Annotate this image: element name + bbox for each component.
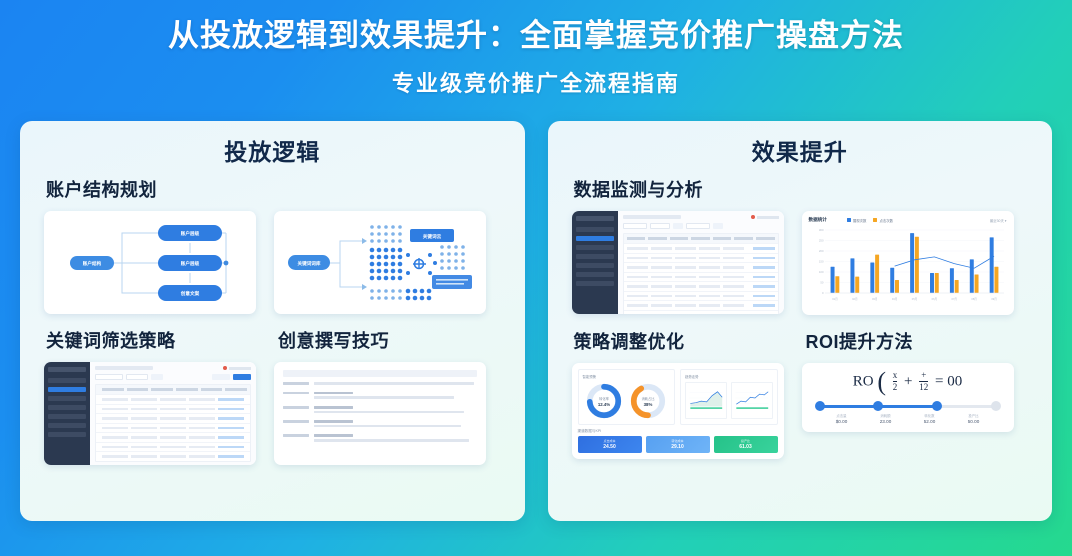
svg-text:05月: 05月 <box>911 297 917 301</box>
slider-knob-3[interactable] <box>932 401 942 411</box>
trend-panel: 趋势走势 <box>680 369 778 425</box>
document-body <box>314 406 477 415</box>
page-header: 从投放逻辑到效果提升：全面掌握竞价推广操盘方法 专业级竞价推广全流程指南 <box>0 0 1072 98</box>
table-row[interactable] <box>624 262 778 272</box>
slider-knob-4[interactable] <box>991 401 1001 411</box>
username-placeholder <box>229 367 251 370</box>
admin-nav-item[interactable] <box>48 432 86 437</box>
svg-text:100: 100 <box>818 270 823 274</box>
svg-text:07月: 07月 <box>951 297 957 301</box>
keyword-cloud-tag: 关键词云 <box>423 233 442 240</box>
tile-value: 29.10 <box>648 444 708 450</box>
filter-input[interactable] <box>650 223 670 229</box>
trend-chart-1[interactable] <box>685 382 727 419</box>
donut-panel: 智能预警 转化率 12.4% 消耗占比 <box>578 369 676 425</box>
formula-prefix: RO <box>853 374 874 390</box>
flow-node-2: 账户层级 <box>181 260 200 267</box>
admin-sidebar <box>572 211 618 314</box>
area-chart-svg <box>688 385 724 411</box>
table-row[interactable] <box>96 394 250 404</box>
table-row[interactable] <box>624 272 778 282</box>
document-label <box>283 382 309 387</box>
admin-nav-item[interactable] <box>576 281 614 286</box>
admin-filters[interactable] <box>95 374 251 380</box>
slider-mark: 点击量 $0.00 <box>820 413 864 424</box>
breadcrumb <box>95 366 153 370</box>
filter-label <box>713 223 723 229</box>
svg-text:03月: 03月 <box>871 297 877 301</box>
donut-label: 消耗占比 <box>642 396 656 401</box>
roi-progress-slider[interactable]: 点击量 $0.00 消耗额 23.00 转化数 52.00 投产比 <box>812 405 1004 424</box>
card-performance-chart[interactable]: 数据统计 展现次数 点击次数 最近30天 ▾ <box>802 211 1014 315</box>
document-row <box>283 434 477 443</box>
section-title-account-structure: 账户结构规划 <box>46 176 501 202</box>
admin-nav-item[interactable] <box>48 396 86 401</box>
metric-tile-roi[interactable]: 投产比 61.03 <box>714 436 778 453</box>
admin-nav-item-active[interactable] <box>48 387 86 392</box>
dashboard-tiles-section: 渠道数据与KPI 点击成本 24.50 转化成本 29.10 投产比 61.03 <box>578 429 778 453</box>
svg-text:09月: 09月 <box>991 297 997 301</box>
svg-text:150: 150 <box>818 260 823 264</box>
admin-logo <box>48 367 86 372</box>
slider-mark: 投产比 50.00 <box>952 413 996 424</box>
keyword-cloud-pill: 关键词词库 <box>298 260 321 267</box>
flow-node-3: 创意文案 <box>180 290 200 297</box>
panel-performance-improvement: 效果提升 数据监测与分析 <box>548 121 1053 521</box>
admin-nav-item[interactable] <box>576 272 614 277</box>
slider-mark: 消耗额 23.00 <box>864 413 908 424</box>
svg-text:250: 250 <box>818 239 823 243</box>
svg-text:01月: 01月 <box>832 297 838 301</box>
right-section-titles: 策略调整优化 ROI提升方法 <box>572 328 1029 363</box>
chart-plot-area: 05010015020025030001月02月03月04月05月06月07月0… <box>809 226 1007 309</box>
svg-text:02月: 02月 <box>852 297 858 301</box>
section-title-data-monitoring: 数据监测与分析 <box>574 176 1029 202</box>
keyword-cloud-svg: 关键词词库 <box>280 217 480 309</box>
admin-nav[interactable] <box>576 227 614 286</box>
formula-operator: + <box>904 374 912 390</box>
document-label <box>283 420 309 429</box>
formula-fraction-2: + 12 <box>919 371 928 393</box>
chart-header: 数据统计 展现次数 点击次数 最近30天 ▾ <box>809 217 1007 223</box>
mark-top-label: 投产比 <box>952 413 996 418</box>
dashboard-top-row: 智能预警 转化率 12.4% 消耗占比 <box>578 369 778 425</box>
panel-delivery-logic: 投放逻辑 账户结构规划 <box>20 121 525 521</box>
admin-dashboard-mock <box>572 211 784 314</box>
document-label <box>283 392 309 401</box>
filter-input[interactable] <box>623 223 647 229</box>
slider-track[interactable] <box>820 405 996 408</box>
legend-item-series-0[interactable]: 展现次数 <box>847 218 867 223</box>
table-row[interactable] <box>96 423 250 433</box>
section-title-creative-writing: 创意撰写技巧 <box>278 327 490 353</box>
page-subtitle: 专业级竞价推广全流程指南 <box>0 66 1072 98</box>
th <box>691 237 710 240</box>
table-row[interactable] <box>96 404 250 414</box>
table-header <box>624 234 778 243</box>
card-strategy-dashboard[interactable]: 智能预警 转化率 12.4% 消耗占比 <box>572 363 784 459</box>
search-button[interactable] <box>233 374 251 380</box>
donut-chart-conversion: 转化率 12.4% <box>585 382 623 420</box>
admin-nav-item[interactable] <box>576 227 614 232</box>
table-row[interactable] <box>624 310 778 315</box>
card-monitoring-admin-screenshot[interactable] <box>572 211 784 314</box>
card-roi-formula[interactable]: RO ( x 2 + + 12 = 00 <box>802 363 1014 432</box>
donut-label: 转化率 <box>599 396 609 401</box>
tile-key: 点击成本 <box>580 439 640 443</box>
panels-container: 投放逻辑 账户结构规划 <box>0 98 1072 521</box>
table-row[interactable] <box>96 451 250 461</box>
left-top-cards: 账户结构 账户层级 账户层级 创意文案 <box>44 211 501 314</box>
card-keyword-cloud[interactable]: 关键词词库 <box>274 211 486 314</box>
document-body <box>314 392 477 401</box>
dropdown-label: 最近30天 <box>990 219 1004 223</box>
chart-range-dropdown[interactable]: 最近30天 ▾ <box>990 218 1007 223</box>
document-body <box>314 420 477 429</box>
filter-input[interactable] <box>126 374 148 380</box>
formula-equals: = 00 <box>935 374 962 390</box>
tile-value: 24.50 <box>580 444 640 450</box>
legend-swatch <box>847 218 851 222</box>
document-row <box>283 406 477 415</box>
filter-label <box>151 374 163 380</box>
document-row <box>283 392 477 401</box>
admin-topbar <box>623 215 779 219</box>
right-top-cards: 数据统计 展现次数 点击次数 最近30天 ▾ <box>572 211 1029 315</box>
metric-tiles: 点击成本 24.50 转化成本 29.10 投产比 61.03 <box>578 436 778 453</box>
card-account-structure-flowchart[interactable]: 账户结构 账户层级 账户层级 创意文案 <box>44 211 256 314</box>
table-row[interactable] <box>624 253 778 263</box>
roi-formula: RO ( x 2 + + 12 = 00 <box>812 371 1004 393</box>
document-label <box>283 434 309 443</box>
th <box>627 237 646 240</box>
notification-icon[interactable] <box>223 366 227 370</box>
svg-text:0: 0 <box>821 291 823 295</box>
section-title-roi-methods: ROI提升方法 <box>806 328 1018 354</box>
slider-knob-2[interactable] <box>873 401 883 411</box>
user-area[interactable] <box>751 215 779 219</box>
table-row[interactable] <box>96 442 250 452</box>
admin-filters[interactable] <box>623 223 779 229</box>
table-row[interactable] <box>624 291 778 301</box>
mark-bottom-label: 50.00 <box>952 419 996 424</box>
page-title: 从投放逻辑到效果提升：全面掌握竞价推广操盘方法 <box>0 17 1072 54</box>
mark-bottom-label: $0.00 <box>820 419 864 424</box>
admin-topbar <box>95 366 251 370</box>
flow-node-root: 账户结构 <box>83 260 102 267</box>
legend-label: 展现次数 <box>853 218 867 223</box>
trend-chart-group <box>685 382 773 419</box>
reset-button[interactable] <box>212 374 230 380</box>
legend-swatch <box>873 218 877 222</box>
admin-logo <box>576 216 614 221</box>
donut-group: 转化率 12.4% 消耗占比 38% <box>583 382 671 420</box>
slider-knob-1[interactable] <box>815 401 825 411</box>
mark-top-label: 消耗额 <box>864 413 908 418</box>
section-title-keyword-strategy: 关键词筛选策略 <box>46 327 258 353</box>
trend-chart-2[interactable] <box>731 382 773 419</box>
svg-text:50: 50 <box>820 281 824 285</box>
admin-nav-item[interactable] <box>576 254 614 259</box>
notification-icon[interactable] <box>751 215 755 219</box>
tiles-caption: 渠道数据与KPI <box>578 429 778 434</box>
chart-legend[interactable]: 展现次数 点击次数 <box>847 218 893 223</box>
table-row[interactable] <box>624 300 778 310</box>
slider-mark: 转化数 52.00 <box>908 413 952 424</box>
chart-svg: 05010015020025030001月02月03月04月05月06月07月0… <box>809 226 1007 304</box>
admin-nav-item-active[interactable] <box>576 236 614 241</box>
th <box>151 388 173 391</box>
admin-main <box>90 362 256 465</box>
th <box>648 237 667 240</box>
tile-value: 61.03 <box>716 444 776 450</box>
th <box>756 237 775 240</box>
svg-text:06月: 06月 <box>931 297 937 301</box>
th <box>734 237 753 240</box>
data-table <box>95 384 251 462</box>
user-area[interactable] <box>223 366 251 370</box>
table-row[interactable] <box>96 413 250 423</box>
th <box>176 388 198 391</box>
panel-title-right: 效果提升 <box>572 133 1029 167</box>
document-body <box>314 434 477 443</box>
table-row[interactable] <box>624 281 778 291</box>
section-title-strategy-optimization: 策略调整优化 <box>574 328 786 354</box>
admin-main <box>618 211 784 314</box>
admin-sidebar <box>44 362 90 465</box>
admin-nav-item[interactable] <box>48 405 86 410</box>
fraction-denominator: 2 <box>893 381 898 393</box>
tile-key: 转化成本 <box>648 439 708 443</box>
metric-tile-cpa[interactable]: 转化成本 29.10 <box>646 436 710 453</box>
document-body <box>314 382 477 387</box>
trend-panel-caption: 趋势走势 <box>685 374 773 379</box>
flow-node-1: 账户层级 <box>181 230 200 237</box>
table-row[interactable] <box>624 243 778 253</box>
admin-nav-item[interactable] <box>48 423 86 428</box>
th <box>127 388 149 391</box>
admin-dashboard-mock <box>44 362 256 465</box>
document-row <box>283 420 477 429</box>
mark-bottom-label: 52.00 <box>908 419 952 424</box>
slider-marks: 点击量 $0.00 消耗额 23.00 转化数 52.00 投产比 <box>820 413 996 424</box>
formula-fraction-1: x 2 <box>893 371 898 393</box>
donut-panel-caption: 智能预警 <box>583 374 671 379</box>
legend-item-series-1[interactable]: 点击次数 <box>873 218 893 223</box>
chevron-down-icon: ▾ <box>1005 219 1007 223</box>
left-bottom-cards <box>44 362 501 465</box>
data-table <box>623 233 779 314</box>
mark-bottom-label: 23.00 <box>864 419 908 424</box>
th <box>102 388 124 391</box>
metric-tile-cpc[interactable]: 点击成本 24.50 <box>578 436 642 453</box>
document-title-bar <box>283 370 477 377</box>
username-placeholder <box>757 216 779 219</box>
donut-value: 38% <box>644 402 653 407</box>
document-row <box>283 382 477 387</box>
card-keyword-admin-screenshot[interactable] <box>44 362 256 465</box>
admin-nav-item[interactable] <box>576 245 614 250</box>
fraction-denominator: 12 <box>919 381 928 393</box>
legend-label: 点击次数 <box>879 218 893 223</box>
mark-top-label: 点击量 <box>820 413 864 418</box>
chart-title: 数据统计 <box>809 217 827 223</box>
admin-nav-item[interactable] <box>48 414 86 419</box>
flowchart-svg: 账户结构 账户层级 账户层级 创意文案 <box>54 219 246 307</box>
filter-input[interactable] <box>686 223 710 229</box>
document-label <box>283 406 309 415</box>
th <box>201 388 223 391</box>
mark-top-label: 转化数 <box>908 413 952 418</box>
line-chart-svg <box>734 385 770 411</box>
right-bottom-cards: 智能预警 转化率 12.4% 消耗占比 <box>572 363 1029 459</box>
donut-value: 12.4% <box>598 402 610 407</box>
admin-nav[interactable] <box>48 378 86 437</box>
fraction-numerator: + <box>919 371 928 381</box>
admin-nav-item[interactable] <box>576 263 614 268</box>
formula-paren: ( <box>877 367 886 396</box>
admin-nav-item[interactable] <box>48 378 86 383</box>
left-section-titles: 关键词筛选策略 创意撰写技巧 <box>44 327 501 362</box>
donut-chart-spend-share: 消耗占比 38% <box>629 382 667 420</box>
table-row[interactable] <box>96 432 250 442</box>
tile-key: 投产比 <box>716 439 776 443</box>
th <box>225 388 247 391</box>
filter-input[interactable] <box>95 374 123 380</box>
filter-label <box>673 223 683 229</box>
card-creative-document-screenshot[interactable] <box>274 362 486 465</box>
svg-text:300: 300 <box>818 228 823 232</box>
table-header <box>96 385 250 394</box>
breadcrumb <box>623 215 681 219</box>
fraction-numerator: x <box>893 371 898 381</box>
th <box>670 237 689 240</box>
svg-text:200: 200 <box>818 249 823 253</box>
svg-text:04月: 04月 <box>891 297 897 301</box>
panel-title-left: 投放逻辑 <box>44 133 501 167</box>
th <box>713 237 732 240</box>
svg-text:08月: 08月 <box>971 297 977 301</box>
